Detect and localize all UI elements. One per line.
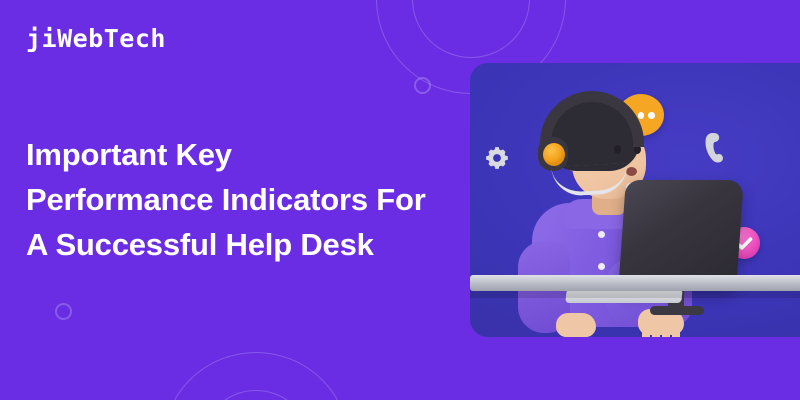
headline: Important Key Performance Indicators For… [26, 132, 446, 267]
agent-mouth [626, 167, 637, 176]
decorative-dot-lower [55, 303, 72, 320]
promo-banner: jiWebTech Important Key Performance Indi… [0, 0, 800, 400]
monitor-stand-foot [650, 306, 704, 315]
headset-earcup-pad [543, 143, 565, 166]
decorative-dot-upper [414, 77, 431, 94]
monitor-screen [618, 180, 744, 290]
agent-finger-2 [652, 327, 660, 337]
headline-line-3: A Successful Help Desk [26, 222, 446, 267]
headline-line-1: Important Key [26, 132, 446, 177]
illustration-card [470, 63, 800, 337]
agent-finger-1 [642, 325, 650, 337]
desk-shadow [470, 291, 800, 298]
agent-left-hand [556, 313, 596, 337]
headline-line-2: Performance Indicators For [26, 177, 446, 222]
computer-monitor [622, 180, 740, 290]
agent-finger-4 [672, 325, 680, 337]
agent-finger-3 [662, 327, 670, 337]
brand-logo[interactable]: jiWebTech [26, 24, 166, 53]
agent-button-bottom [598, 263, 605, 270]
desk-surface [470, 275, 800, 291]
agent-button-top [598, 231, 605, 238]
gear-icon [484, 145, 510, 171]
